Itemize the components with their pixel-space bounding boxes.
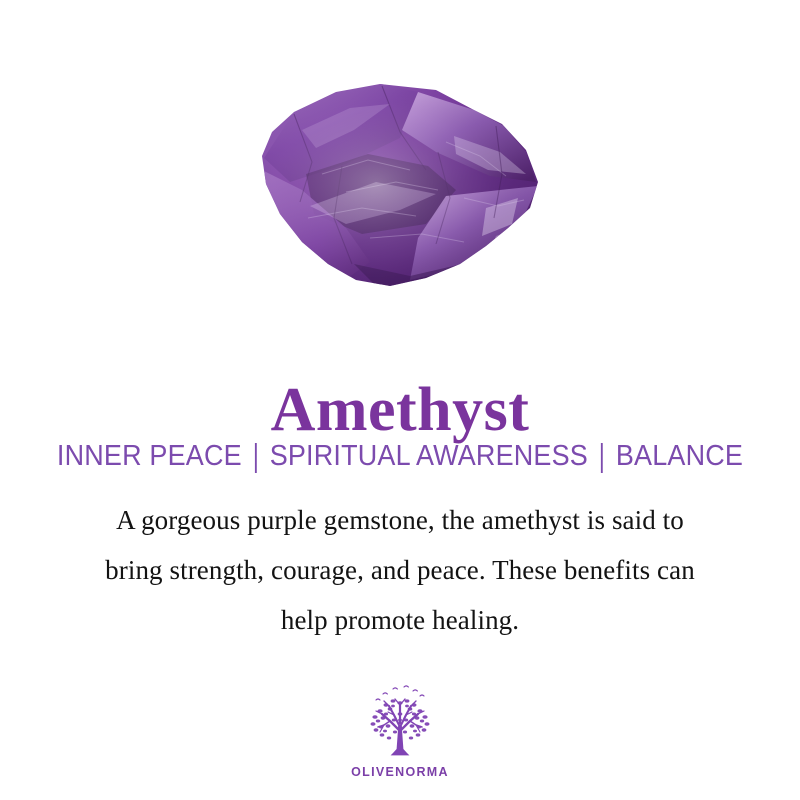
- description-line: A gorgeous purple gemstone, the amethyst…: [0, 495, 800, 545]
- brand-logo: OLIVENORMA: [0, 683, 800, 779]
- hero-image-region: [0, 0, 800, 320]
- description-line: help promote healing.: [0, 595, 800, 645]
- attribute-separator: [255, 443, 257, 473]
- attribute-spiritual-awareness: SPIRITUAL AWARENESS: [270, 440, 588, 473]
- page-title: Amethyst: [0, 378, 800, 443]
- attribute-separator: [601, 443, 603, 473]
- attribute-balance: BALANCE: [616, 440, 743, 473]
- description-line: bring strength, courage, and peace. Thes…: [0, 545, 800, 595]
- tree-of-life-icon: [357, 683, 443, 763]
- product-description: A gorgeous purple gemstone, the amethyst…: [0, 495, 800, 645]
- product-info-card: Amethyst INNER PEACE SPIRITUAL AWARENESS…: [0, 0, 800, 800]
- brand-name: OLIVENORMA: [351, 765, 449, 779]
- attribute-list: INNER PEACE SPIRITUAL AWARENESS BALANCE: [28, 440, 772, 473]
- amethyst-crystal-image: [250, 78, 550, 298]
- attribute-inner-peace: INNER PEACE: [57, 440, 242, 473]
